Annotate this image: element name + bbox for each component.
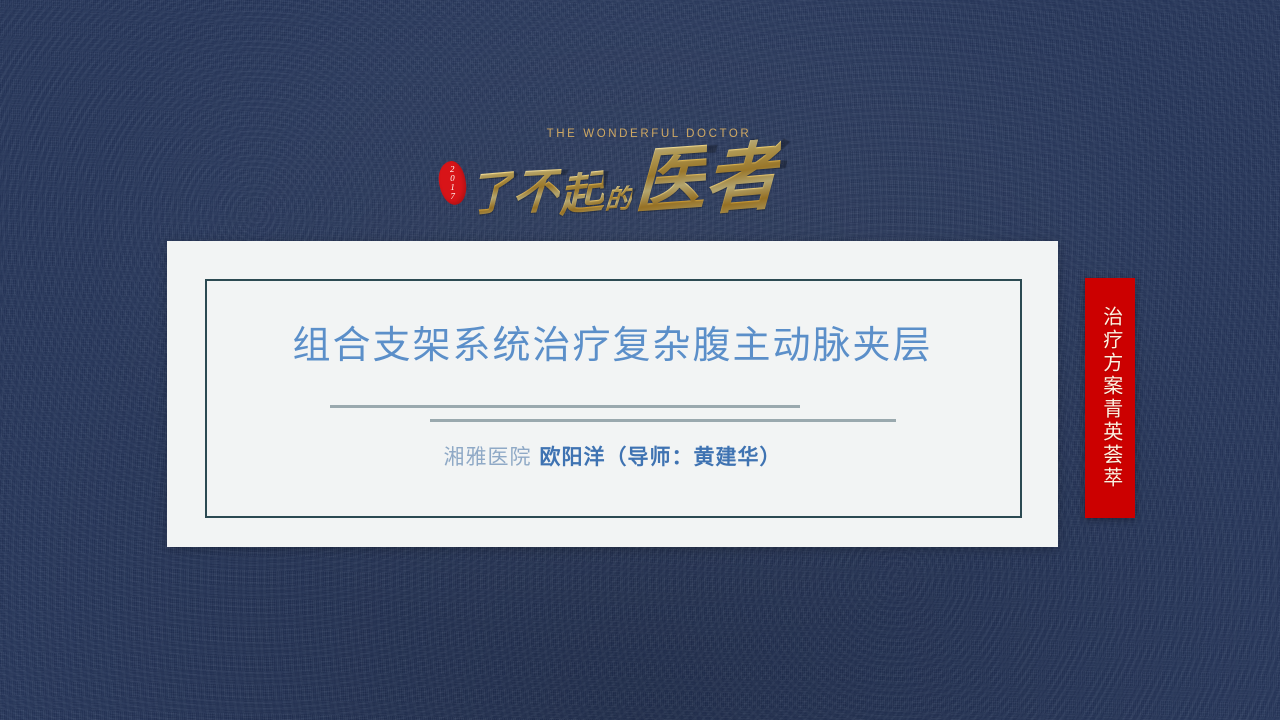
year-seal-text: 2 0 1 7 bbox=[439, 161, 467, 205]
organization-label: 湘雅医院 bbox=[444, 445, 532, 469]
page-title: 组合支架系统治疗复杂腹主动脉夹层 bbox=[292, 314, 932, 369]
logo-chinese-calligraphy: 了 不 起 的 医 者 bbox=[468, 141, 780, 217]
divider-line-bottom bbox=[430, 419, 896, 422]
calligraphy-char-2: 不 bbox=[510, 168, 561, 219]
side-banner-text: 治疗方案青英荟萃 bbox=[1095, 306, 1125, 490]
presenter-label: 欧阳洋（导师：黄建华） bbox=[540, 445, 782, 469]
calligraphy-char-5: 医 bbox=[633, 142, 707, 219]
title-card: 组合支架系统治疗复杂腹主动脉夹层 湘雅医院欧阳洋（导师：黄建华） bbox=[167, 241, 1058, 547]
side-banner: 治疗方案青英荟萃 bbox=[1085, 278, 1135, 518]
presentation-slide: 2 0 1 7 THE WONDERFUL DOCTOR 了 不 起 的 医 者… bbox=[0, 0, 1280, 720]
divider-group bbox=[330, 397, 896, 427]
year-seal-icon: 2 0 1 7 bbox=[437, 160, 468, 206]
presenter-line: 湘雅医院欧阳洋（导师：黄建华） bbox=[444, 441, 782, 471]
calligraphy-char-6: 者 bbox=[703, 137, 781, 220]
brand-logo-inner: 2 0 1 7 THE WONDERFUL DOCTOR 了 不 起 的 医 者 bbox=[430, 128, 850, 234]
calligraphy-char-1: 了 bbox=[468, 169, 514, 219]
card-content: 组合支架系统治疗复杂腹主动脉夹层 湘雅医院欧阳洋（导师：黄建华） bbox=[167, 241, 1058, 547]
brand-logo: 2 0 1 7 THE WONDERFUL DOCTOR 了 不 起 的 医 者 bbox=[0, 128, 1280, 234]
calligraphy-char-3: 起 bbox=[559, 170, 605, 220]
divider-line-top bbox=[330, 405, 800, 408]
calligraphy-char-4: 的 bbox=[604, 185, 633, 214]
seal-digit-4: 7 bbox=[450, 192, 455, 201]
